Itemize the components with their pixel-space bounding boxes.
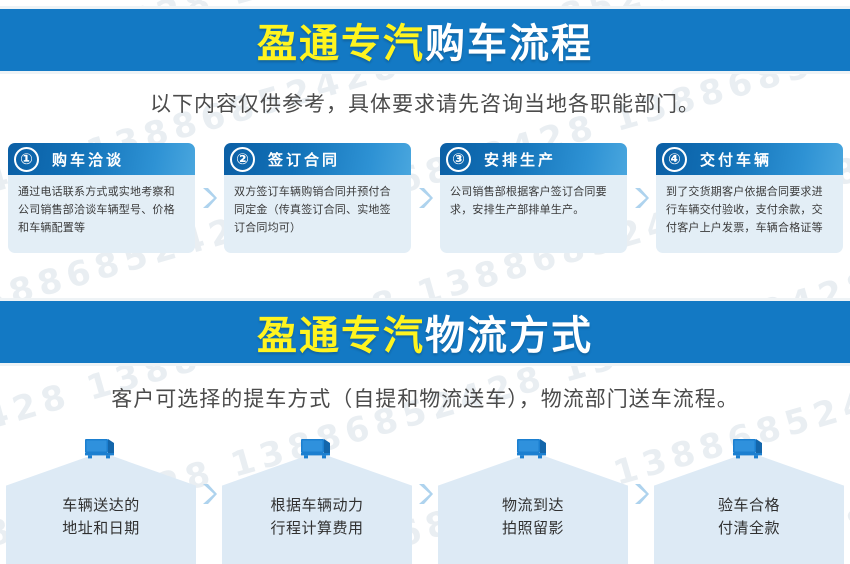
purchase-step-card[interactable]: ④ 交付车辆 到了交货期客户依据合同要求进行车辆交付验收，支付余款，交付客户上户… [656, 143, 843, 253]
step-header: ④ 交付车辆 [656, 143, 843, 175]
section-2-banner: 盈通专汽物流方式 [0, 298, 850, 366]
logistics-card-line2: 行程计算费用 [222, 517, 412, 540]
step-arrow-separator [411, 143, 440, 253]
truck-icon [300, 438, 334, 461]
chevron-right-icon [418, 482, 433, 506]
logistics-step-card[interactable]: 根据车辆动力 行程计算费用 [222, 438, 412, 564]
step-arrow-separator [195, 143, 224, 253]
logistics-card-line1: 根据车辆动力 [222, 494, 412, 517]
logistics-arrow-separator [628, 438, 654, 564]
step-body-text: 公司销售部根据客户签订合同要求，安排生产部排单生产。 [440, 175, 627, 253]
purchase-step-card[interactable]: ③ 安排生产 公司销售部根据客户签订合同要求，安排生产部排单生产。 [440, 143, 627, 253]
logistics-card-line2: 地址和日期 [6, 517, 196, 540]
step-header: ② 签订合同 [224, 143, 411, 175]
section-2-banner-text: 盈通专汽物流方式 [257, 303, 593, 361]
section-1-banner-rest: 购车流程 [425, 21, 593, 67]
purchase-step-card[interactable]: ① 购车洽谈 通过电话联系方式或实地考察和公司销售部洽谈车辆型号、价格和车辆配置… [8, 143, 195, 253]
section-1-banner: 盈通专汽购车流程 [0, 6, 850, 74]
logistics-card-line1: 物流到达 [438, 494, 628, 517]
logistics-card-line2: 付清全款 [654, 517, 844, 540]
truck-icon [84, 438, 118, 461]
chevron-right-icon [202, 482, 217, 506]
logistics-card-line1: 车辆送达的 [6, 494, 196, 517]
step-title: 签订合同 [268, 149, 340, 170]
step-title: 购车洽谈 [52, 149, 124, 170]
step-title: 安排生产 [484, 149, 556, 170]
logistics-arrow-separator [412, 438, 438, 564]
step-header: ① 购车洽谈 [8, 143, 195, 175]
logistics-card-line2: 拍照留影 [438, 517, 628, 540]
logistics-card-line1: 验车合格 [654, 494, 844, 517]
step-number-badge: ③ [446, 147, 471, 172]
logistics-card-text: 物流到达 拍照留影 [438, 494, 628, 540]
step-arrow-separator [627, 143, 656, 253]
chevron-right-icon [634, 186, 649, 210]
section-1-banner-text: 盈通专汽购车流程 [257, 11, 593, 69]
step-body-text: 通过电话联系方式或实地考察和公司销售部洽谈车辆型号、价格和车辆配置等 [8, 175, 195, 253]
logistics-step-card[interactable]: 车辆送达的 地址和日期 [6, 438, 196, 564]
logistics-step-card[interactable]: 物流到达 拍照留影 [438, 438, 628, 564]
purchase-step-row: ① 购车洽谈 通过电话联系方式或实地考察和公司销售部洽谈车辆型号、价格和车辆配置… [8, 143, 842, 255]
section-2-subtitle: 客户可选择的提车方式（自提和物流送车），物流部门送车流程。 [0, 383, 850, 413]
logistics-step-card[interactable]: 验车合格 付清全款 [654, 438, 844, 564]
section-2-brand: 盈通专汽 [257, 313, 425, 359]
truck-icon [516, 438, 550, 461]
truck-icon [732, 438, 766, 461]
chevron-right-icon [634, 482, 649, 506]
step-title: 交付车辆 [700, 149, 772, 170]
section-1-brand: 盈通专汽 [257, 21, 425, 67]
purchase-step-card[interactable]: ② 签订合同 双方签订车辆购销合同并预付合同定金（传真签订合同、实地签订合同均可… [224, 143, 411, 253]
section-2-banner-rest: 物流方式 [425, 313, 593, 359]
step-body-text: 双方签订车辆购销合同并预付合同定金（传真签订合同、实地签订合同均可） [224, 175, 411, 253]
step-number-badge: ② [230, 147, 255, 172]
logistics-arrow-separator [196, 438, 222, 564]
logistics-card-text: 车辆送达的 地址和日期 [6, 494, 196, 540]
chevron-right-icon [418, 186, 433, 210]
page-root: 13886852428 13886852428 13886852428 1388… [0, 0, 850, 564]
chevron-right-icon [202, 186, 217, 210]
step-number-badge: ① [14, 147, 39, 172]
logistics-card-text: 验车合格 付清全款 [654, 494, 844, 540]
step-number-badge: ④ [662, 147, 687, 172]
logistics-card-text: 根据车辆动力 行程计算费用 [222, 494, 412, 540]
logistics-step-row: 车辆送达的 地址和日期 根据车辆动力 行程计算费用 [6, 434, 844, 564]
step-header: ③ 安排生产 [440, 143, 627, 175]
step-body-text: 到了交货期客户依据合同要求进行车辆交付验收，支付余款，交付客户上户发票，车辆合格… [656, 175, 843, 253]
section-1-subtitle: 以下内容仅供参考，具体要求请先咨询当地各职能部门。 [0, 88, 850, 118]
